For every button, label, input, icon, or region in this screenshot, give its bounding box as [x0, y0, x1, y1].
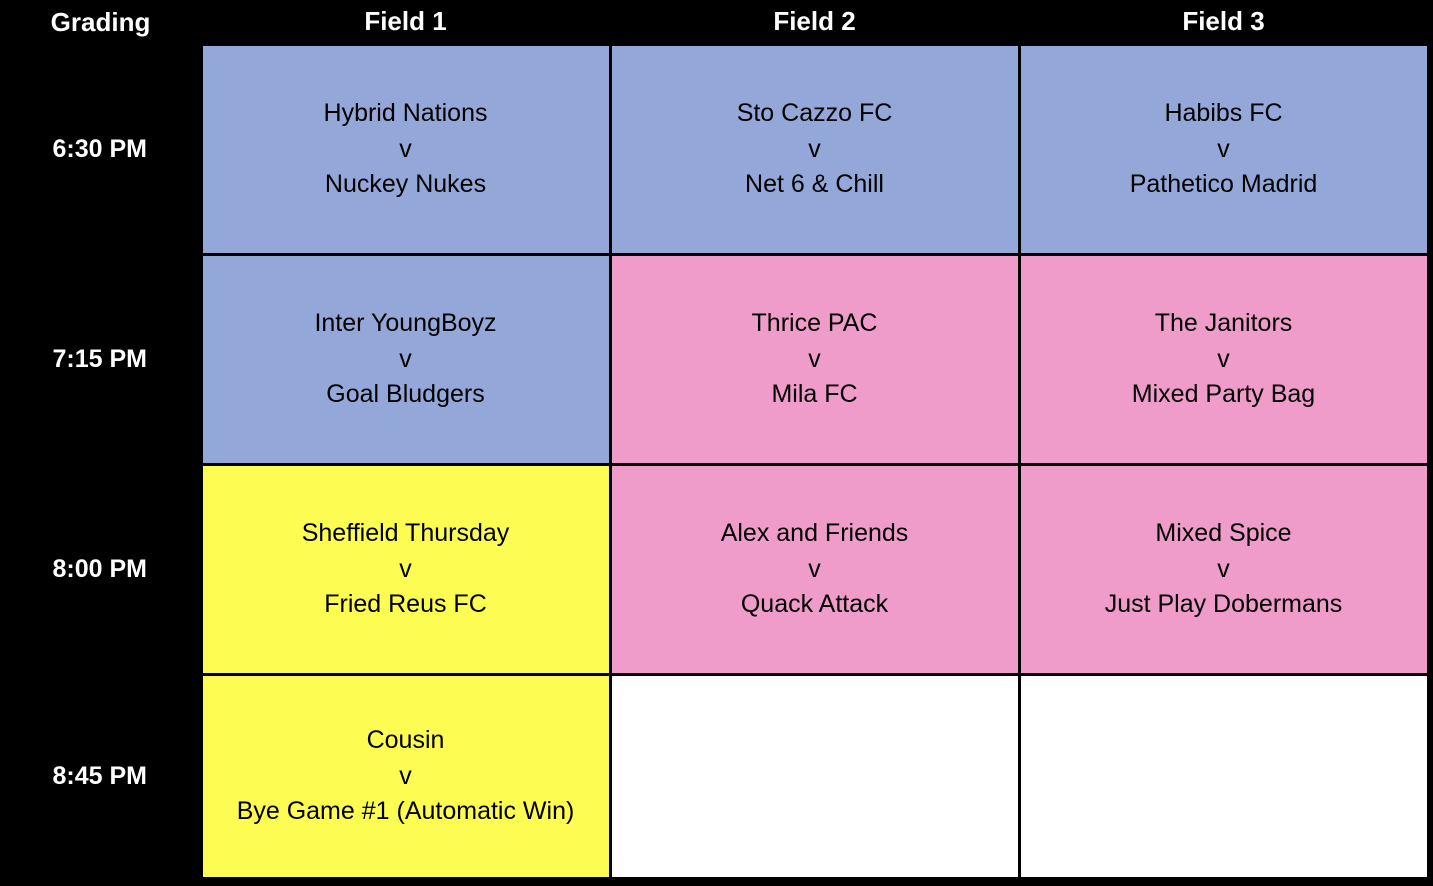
home-team-name: Sheffield Thursday [209, 516, 603, 552]
home-team-name: Cousin [209, 723, 603, 759]
match-cell[interactable]: Hybrid NationsvNuckey Nukes [201, 45, 610, 255]
home-team-name: Mixed Spice [1027, 516, 1421, 552]
versus-separator: v [209, 342, 603, 378]
away-team-name: Nuckey Nukes [209, 167, 603, 203]
home-team-name: Inter YoungBoyz [209, 306, 603, 342]
table-row: 7:15 PMInter YoungBoyzvGoal BludgersThri… [0, 255, 1428, 465]
empty-match-cell[interactable] [1019, 675, 1428, 879]
away-team-name: Net 6 & Chill [618, 167, 1012, 203]
schedule-container: Grading Field 1 Field 2 Field 3 6:30 PMH… [0, 0, 1433, 886]
column-header-field-3: Field 3 [1019, 0, 1428, 45]
time-slot-label: 7:15 PM [0, 255, 201, 465]
versus-separator: v [1027, 342, 1421, 378]
versus-separator: v [618, 132, 1012, 168]
away-team-name: Mixed Party Bag [1027, 377, 1421, 413]
match-cell[interactable]: Sto Cazzo FCvNet 6 & Chill [610, 45, 1019, 255]
grading-schedule-table: Grading Field 1 Field 2 Field 3 6:30 PMH… [0, 0, 1430, 880]
column-header-field-2: Field 2 [610, 0, 1019, 45]
match-cell[interactable]: Habibs FCvPathetico Madrid [1019, 45, 1428, 255]
match-cell[interactable]: Mixed SpicevJust Play Dobermans [1019, 465, 1428, 675]
home-team-name: The Janitors [1027, 306, 1421, 342]
column-header-field-1: Field 1 [201, 0, 610, 45]
match-cell[interactable]: Inter YoungBoyzvGoal Bludgers [201, 255, 610, 465]
away-team-name: Bye Game #1 (Automatic Win) [209, 794, 603, 830]
time-slot-label: 6:30 PM [0, 45, 201, 255]
versus-separator: v [209, 759, 603, 795]
match-cell[interactable]: Alex and FriendsvQuack Attack [610, 465, 1019, 675]
versus-separator: v [1027, 132, 1421, 168]
time-slot-label: 8:00 PM [0, 465, 201, 675]
away-team-name: Mila FC [618, 377, 1012, 413]
versus-separator: v [209, 132, 603, 168]
home-team-name: Alex and Friends [618, 516, 1012, 552]
versus-separator: v [1027, 552, 1421, 588]
versus-separator: v [209, 552, 603, 588]
table-body: 6:30 PMHybrid NationsvNuckey NukesSto Ca… [0, 45, 1428, 879]
home-team-name: Sto Cazzo FC [618, 96, 1012, 132]
match-cell[interactable]: CousinvBye Game #1 (Automatic Win) [201, 675, 610, 879]
away-team-name: Fried Reus FC [209, 587, 603, 623]
empty-match-cell[interactable] [610, 675, 1019, 879]
time-slot-label: 8:45 PM [0, 675, 201, 879]
away-team-name: Quack Attack [618, 587, 1012, 623]
away-team-name: Pathetico Madrid [1027, 167, 1421, 203]
table-row: 8:45 PMCousinvBye Game #1 (Automatic Win… [0, 675, 1428, 879]
table-row: 6:30 PMHybrid NationsvNuckey NukesSto Ca… [0, 45, 1428, 255]
match-cell[interactable]: Sheffield ThursdayvFried Reus FC [201, 465, 610, 675]
home-team-name: Thrice PAC [618, 306, 1012, 342]
header-row: Grading Field 1 Field 2 Field 3 [0, 0, 1428, 45]
column-header-grading: Grading [0, 0, 201, 45]
match-cell[interactable]: Thrice PACvMila FC [610, 255, 1019, 465]
away-team-name: Goal Bludgers [209, 377, 603, 413]
table-row: 8:00 PMSheffield ThursdayvFried Reus FCA… [0, 465, 1428, 675]
home-team-name: Hybrid Nations [209, 96, 603, 132]
versus-separator: v [618, 342, 1012, 378]
home-team-name: Habibs FC [1027, 96, 1421, 132]
match-cell[interactable]: The JanitorsvMixed Party Bag [1019, 255, 1428, 465]
versus-separator: v [618, 552, 1012, 588]
table-header: Grading Field 1 Field 2 Field 3 [0, 0, 1428, 45]
away-team-name: Just Play Dobermans [1027, 587, 1421, 623]
